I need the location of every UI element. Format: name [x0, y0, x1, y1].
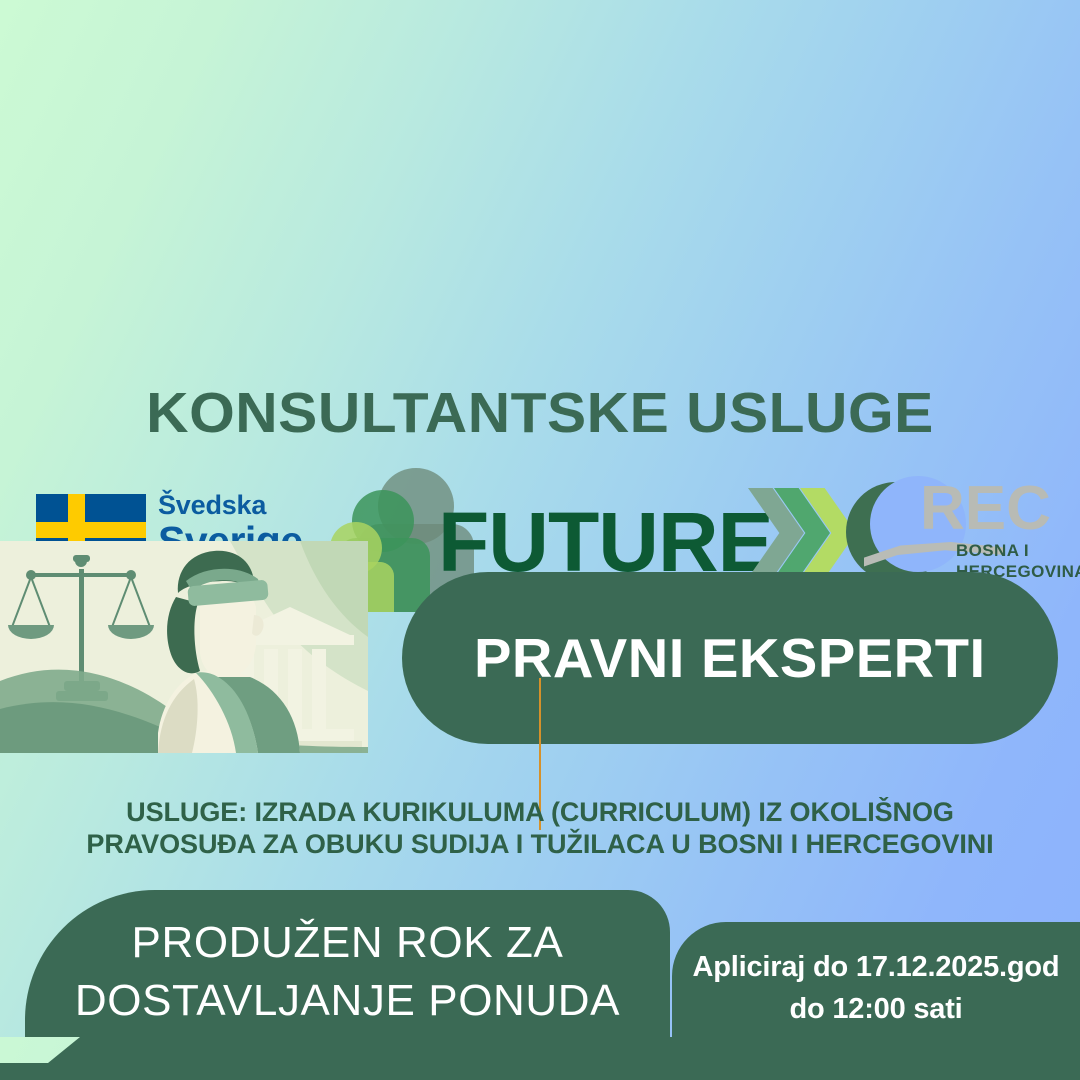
pravni-eksperti-label: PRAVNI EKSPERTI [474, 626, 986, 690]
rec-wordmark: REC [920, 478, 1051, 540]
deadline-line-2: DOSTAVLJANJE PONUDA [25, 972, 670, 1030]
pravni-eksperti-pill: PRAVNI EKSPERTI [402, 572, 1058, 744]
rec-subtitle-line1: BOSNA I [956, 540, 1080, 561]
bottom-bar [0, 1037, 1080, 1080]
apply-line-1: Apliciraj do 17.12.2025.god [672, 946, 1080, 988]
poster-canvas: Švedska Sverige FUTURE REC BO [0, 0, 1080, 1080]
page-title: KONSULTANTSKE USLUGE [0, 382, 1080, 444]
deadline-extension-panel: PRODUŽEN ROK ZA DOSTAVLJANJE PONUDA [25, 890, 670, 1050]
flag-horizontal-bar [36, 522, 146, 538]
deadline-extension-text: PRODUŽEN ROK ZA DOSTAVLJANJE PONUDA [25, 914, 670, 1030]
lady-justice-svg [0, 541, 368, 753]
apply-line-2: do 12:00 sati [672, 988, 1080, 1030]
apply-deadline-text: Apliciraj do 17.12.2025.god do 12:00 sat… [672, 946, 1080, 1030]
apply-deadline-panel: Apliciraj do 17.12.2025.god do 12:00 sat… [672, 922, 1080, 1050]
lady-justice-illustration [0, 541, 368, 753]
logo-row: Švedska Sverige FUTURE REC BO [0, 232, 1080, 372]
services-description: USLUGE: IZRADA KURIKULUMA (CURRICULUM) I… [50, 796, 1029, 860]
services-line-1: USLUGE: IZRADA KURIKULUMA (CURRICULUM) I… [50, 796, 1029, 828]
services-line-2: PRAVOSUĐA ZA OBUKU SUDIJA I TUŽILACA U B… [50, 828, 1029, 860]
deadline-line-1: PRODUŽEN ROK ZA [25, 914, 670, 972]
future-arrows-icon [748, 488, 858, 578]
sweden-label-svedska: Švedska [158, 490, 318, 520]
